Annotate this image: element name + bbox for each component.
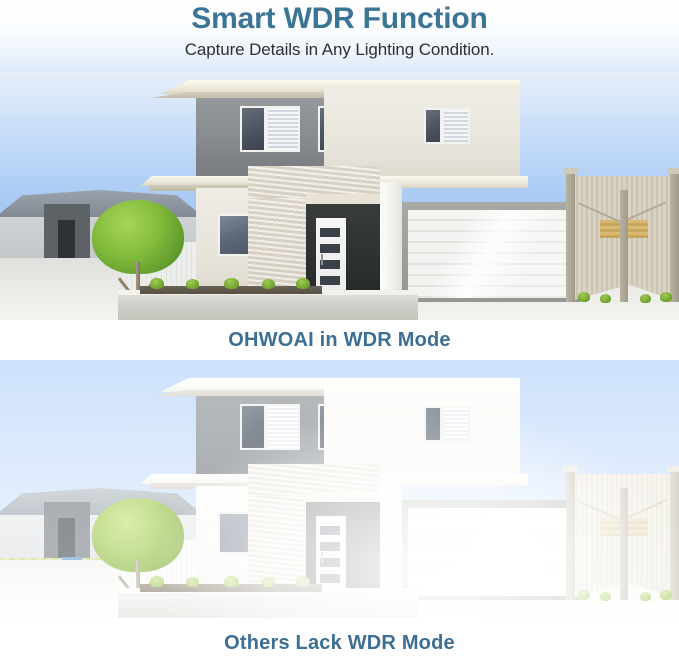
door-glass-panel: [320, 244, 340, 253]
front-door: [316, 516, 346, 594]
entry-pier: [380, 480, 402, 600]
window-upper-far-left: [424, 406, 442, 442]
low-front-wall: [118, 588, 418, 618]
page-title: Smart WDR Function: [0, 0, 679, 36]
gate-post: [566, 172, 575, 302]
caption-wdr-text: OHWOAI in WDR Mode: [0, 320, 679, 360]
window-upper-left: [240, 106, 266, 152]
window-upper-far-right: [442, 406, 470, 442]
garage-door: [408, 508, 574, 596]
gate-post: [670, 470, 679, 600]
shrub: [224, 278, 239, 289]
door-glass-panel: [320, 228, 340, 237]
window-upper-center: [266, 404, 300, 450]
photo-no-wdr-mode: [0, 360, 679, 622]
shrub: [660, 590, 672, 600]
scene-no-wdr: [0, 360, 679, 622]
door-glass-panel: [320, 558, 340, 567]
window-upper-left: [240, 404, 266, 450]
door-glass-panel: [320, 260, 340, 269]
window-upper-far-left: [424, 108, 442, 144]
shrub: [640, 294, 651, 303]
door-glass-panel: [320, 542, 340, 551]
caption-no-wdr: Others Lack WDR Mode: [0, 622, 679, 667]
post-cap: [667, 168, 679, 174]
shrub: [578, 292, 590, 302]
shrub: [262, 279, 275, 289]
neighbour-door: [58, 518, 75, 562]
door-glass-panel: [320, 574, 340, 583]
page-subtitle: Capture Details in Any Lighting Conditio…: [0, 36, 679, 60]
front-door: [316, 218, 346, 296]
window-upper-far-right: [442, 108, 470, 144]
shrub: [660, 292, 672, 302]
wdr-comparison-page: Smart WDR Function Capture Details in An…: [0, 0, 679, 667]
shrub: [600, 592, 611, 601]
post-cap: [563, 168, 578, 174]
portico-ceiling: [306, 194, 380, 204]
post-cap: [667, 466, 679, 472]
shrub: [186, 577, 199, 587]
door-handle: [321, 254, 323, 265]
shrub: [186, 279, 199, 289]
low-front-wall: [118, 290, 418, 320]
door-glass-panel: [320, 276, 340, 285]
gate-post: [566, 470, 575, 600]
gate-post: [670, 172, 679, 302]
shrub: [296, 278, 310, 289]
caption-no-wdr-text: Others Lack WDR Mode: [0, 622, 679, 664]
shrub: [600, 294, 611, 303]
door-handle: [321, 552, 323, 563]
gate-post: [620, 488, 628, 600]
door-glass-panel: [320, 526, 340, 535]
portico-ceiling: [306, 492, 380, 502]
window-upper-center: [266, 106, 300, 152]
shrub: [224, 576, 239, 587]
photo-wdr-mode: [0, 72, 679, 320]
shrub: [296, 576, 310, 587]
post-cap: [563, 466, 578, 472]
gate-post: [620, 190, 628, 302]
shrub: [262, 577, 275, 587]
scene-wdr: [0, 72, 679, 320]
caption-wdr: OHWOAI in WDR Mode: [0, 320, 679, 360]
shrub: [150, 576, 164, 587]
garage-door: [408, 210, 574, 298]
entry-pier: [380, 182, 402, 302]
shrub: [578, 590, 590, 600]
header: Smart WDR Function Capture Details in An…: [0, 0, 679, 72]
shrub: [150, 278, 164, 289]
shrub: [640, 592, 651, 601]
